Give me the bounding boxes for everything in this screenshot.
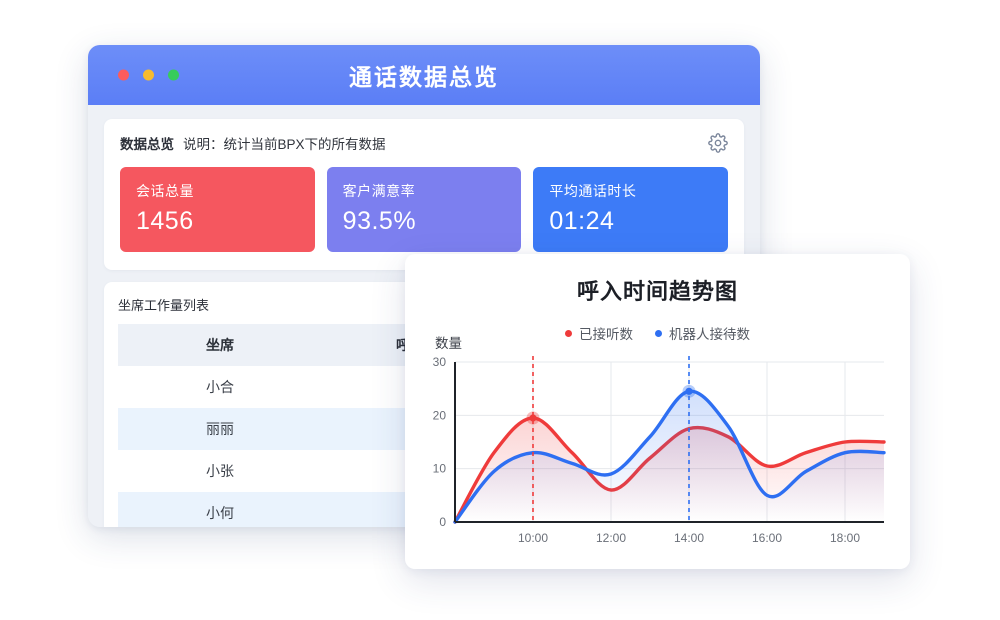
maximize-button[interactable] [168,70,179,81]
minimize-button[interactable] [143,70,154,81]
overview-card: 数据总览 说明：统计当前BPX下的所有数据 会话总量 1456 客户满意率 93… [104,119,744,270]
stat-card-value: 01:24 [549,207,712,236]
cell-agent: 小张 [118,450,322,492]
x-tick-label: 10:00 [518,531,548,545]
title-bar: 通话数据总览 [88,45,760,105]
chart-plot: 010203010:0012:0014:0016:0018:00 [423,354,892,554]
data-point-marker[interactable] [685,388,692,395]
x-tick-label: 16:00 [752,531,782,545]
stat-card-label: 客户满意率 [343,181,506,201]
stat-cards: 会话总量 1456 客户满意率 93.5% 平均通话时长 01:24 [120,167,728,252]
chart-legend: 已接听数 机器人接待数 [423,323,892,343]
cell-agent: 小何 [118,492,322,527]
data-point-marker[interactable] [529,414,536,421]
cell-agent: 丽丽 [118,408,322,450]
stat-card-value: 1456 [136,207,299,236]
stat-card-label: 平均通话时长 [549,181,712,201]
y-tick-label: 10 [433,462,447,476]
legend-item-answered[interactable]: 已接听数 [565,323,633,343]
overview-title: 数据总览 [120,133,174,153]
close-button[interactable] [118,70,129,81]
cell-agent: 小合 [118,366,322,408]
y-axis-caption: 数量 [435,332,462,352]
legend-label: 机器人接待数 [669,323,750,343]
legend-label: 已接听数 [579,323,633,343]
legend-dot-icon [565,330,572,337]
x-tick-label: 18:00 [830,531,860,545]
stat-card-sessions[interactable]: 会话总量 1456 [120,167,315,252]
y-tick-label: 0 [439,515,446,529]
y-tick-label: 20 [433,408,447,422]
chart-title: 呼入时间趋势图 [423,274,892,306]
stat-card-value: 93.5% [343,207,506,236]
chart-svg: 010203010:0012:0014:0016:0018:00 [423,354,892,554]
overview-header: 数据总览 说明：统计当前BPX下的所有数据 [120,133,728,153]
chart-card: 呼入时间趋势图 已接听数 机器人接待数 数量 [405,254,910,569]
window-title: 通话数据总览 [88,58,760,92]
x-tick-label: 14:00 [674,531,704,545]
legend-item-robot[interactable]: 机器人接待数 [655,323,750,343]
y-tick-label: 30 [433,355,447,369]
overview-description: 说明：统计当前BPX下的所有数据 [183,133,386,153]
stat-card-label: 会话总量 [136,181,299,201]
x-tick-label: 12:00 [596,531,626,545]
column-header-agent[interactable]: 坐席 [118,324,322,366]
stat-card-avg-duration[interactable]: 平均通话时长 01:24 [533,167,728,252]
legend-dot-icon [655,330,662,337]
chart-series [455,391,884,522]
traffic-light-buttons [118,70,179,81]
stat-card-satisfaction[interactable]: 客户满意率 93.5% [327,167,522,252]
gear-icon[interactable] [708,133,728,153]
